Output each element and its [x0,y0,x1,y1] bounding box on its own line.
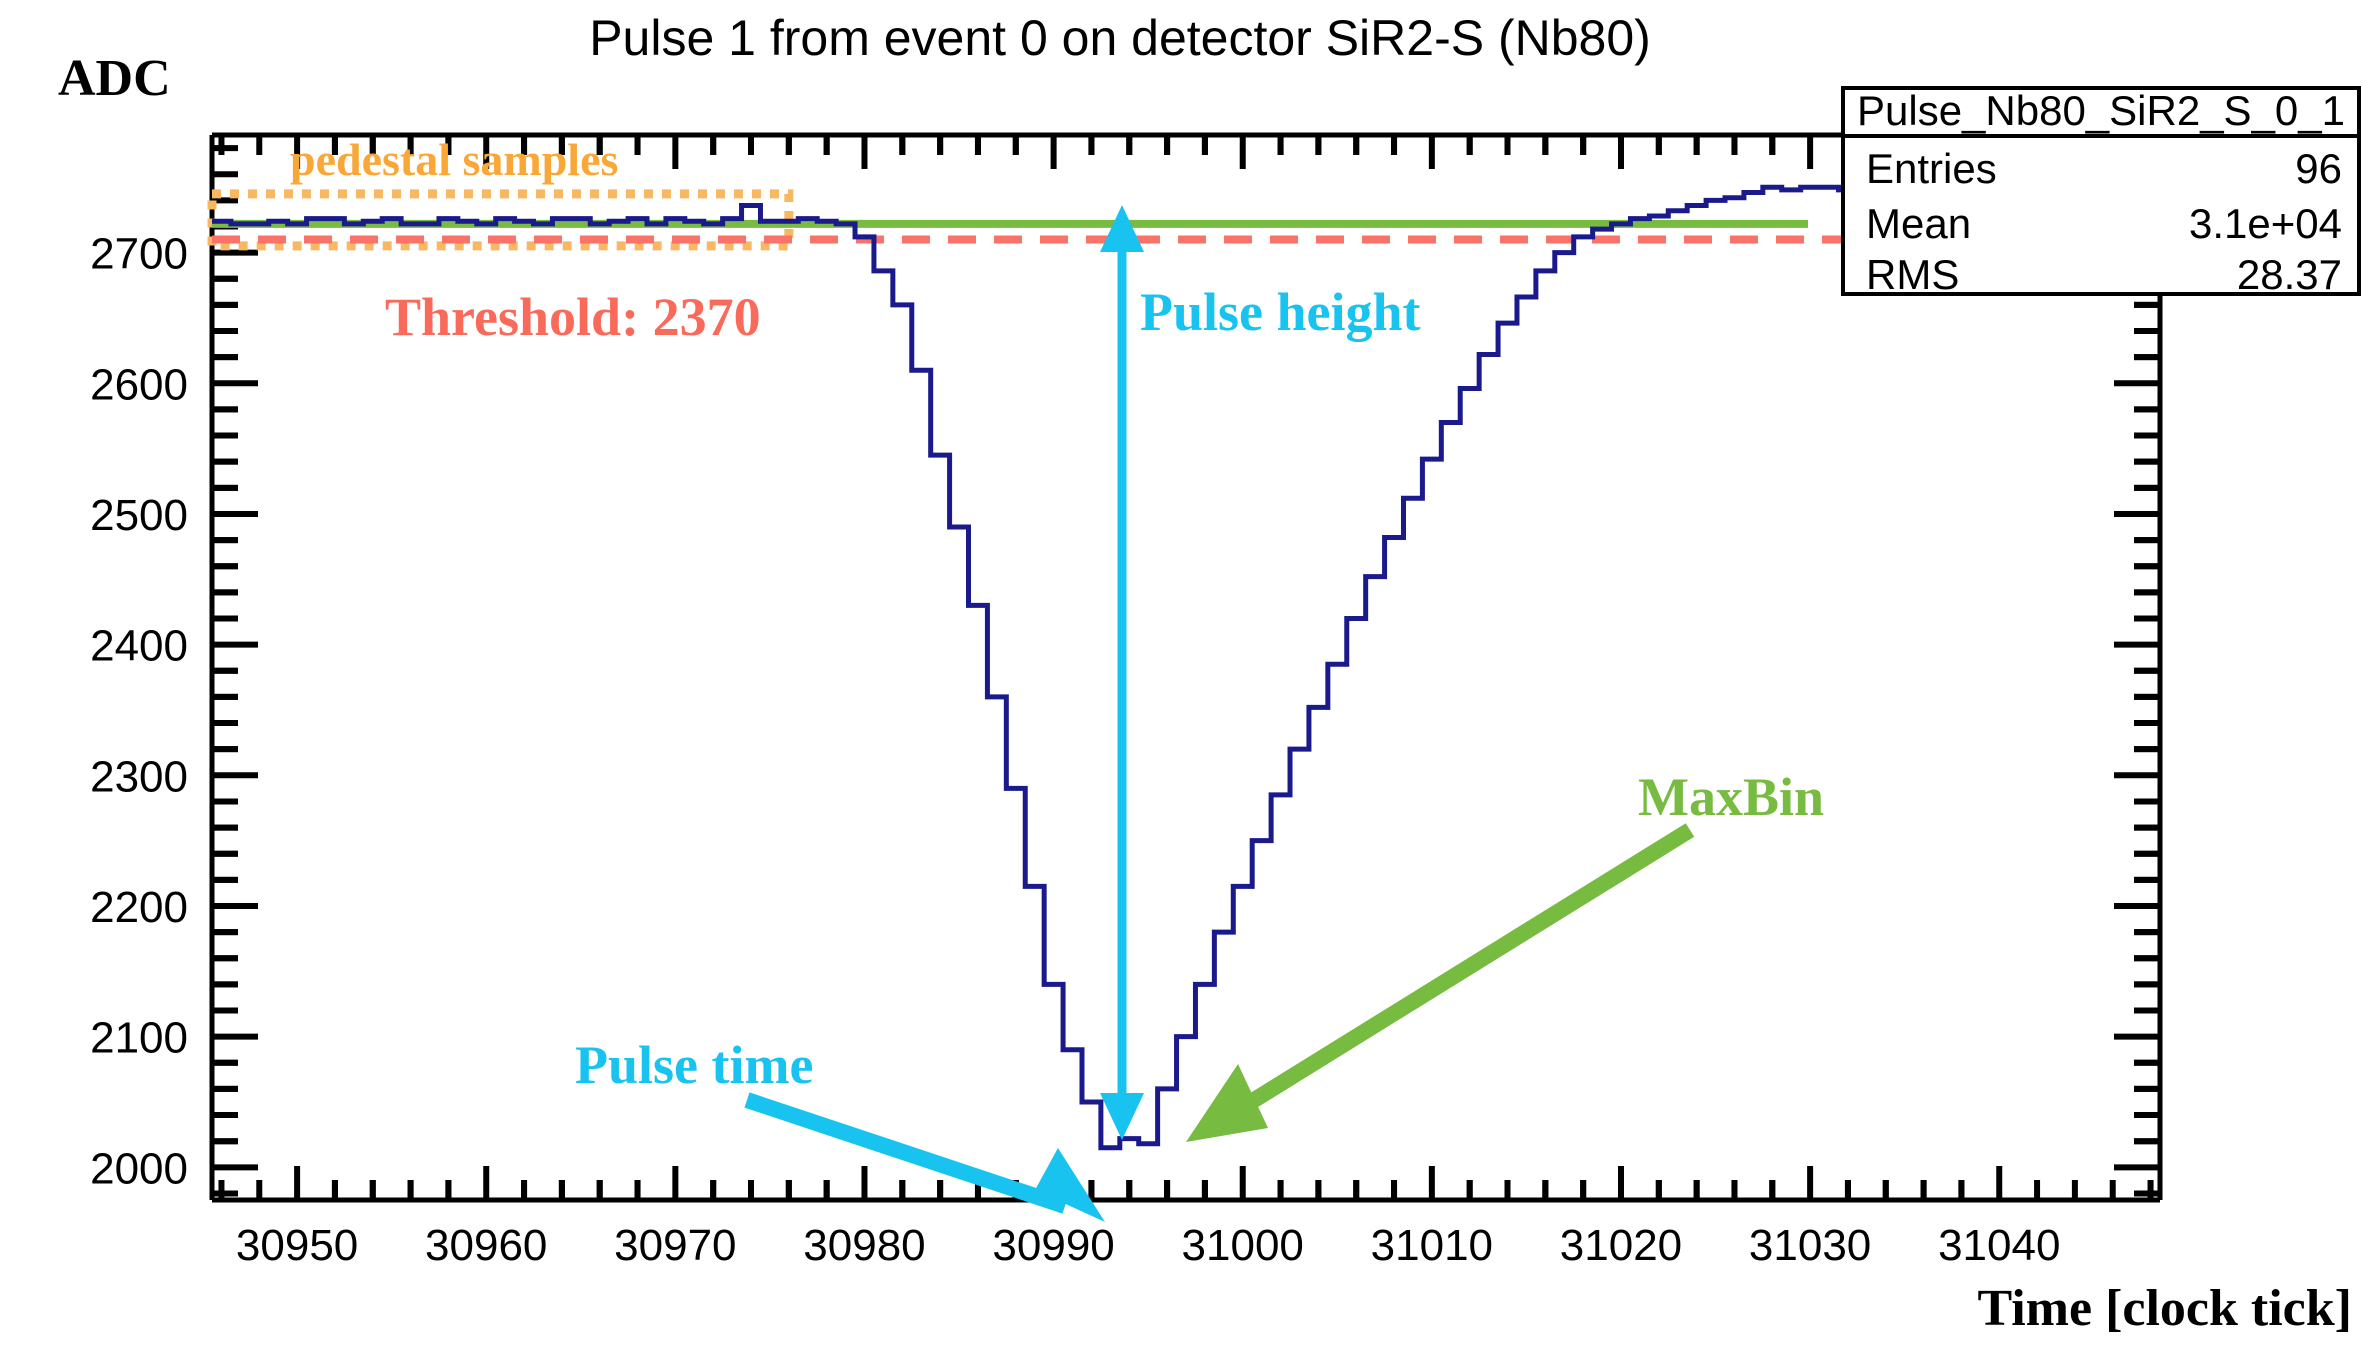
page-title: Pulse 1 from event 0 on detector SiR2-S … [589,10,1651,66]
x-tick-label: 31030 [1749,1221,1871,1270]
maxbin-arrow [1186,830,1690,1142]
x-tick-label: 31000 [1182,1221,1304,1270]
stats-row-label-0: Entries [1866,145,1997,192]
pedestal-samples-label: pedestal samples [290,134,618,185]
x-axis-title: Time [clock tick] [1977,1280,2352,1337]
y-tick-label: 2100 [90,1014,188,1063]
x-tick-label: 31020 [1560,1221,1682,1270]
pulse-height-label: Pulse height [1140,282,1421,342]
x-tick-label: 31010 [1371,1221,1493,1270]
pulse-time-arrow [747,1100,1105,1222]
x-tick-label: 30950 [236,1221,358,1270]
stats-box-title: Pulse_Nb80_SiR2_S_0_1 [1857,87,2345,134]
y-tick-label: 2700 [90,230,188,279]
y-tick-label: 2400 [90,622,188,671]
stats-row-value-0: 96 [2295,145,2342,192]
x-tick-label: 30980 [803,1221,925,1270]
threshold-label: Threshold: 2370 [385,287,761,347]
x-tick-label: 30990 [992,1221,1114,1270]
y-tick-label: 2000 [90,1144,188,1193]
pulse-time-label: Pulse time [575,1035,813,1095]
x-tick-label: 31040 [1938,1221,2060,1270]
y-tick-label: 2600 [90,360,188,409]
plot-svg: Pulse 1 from event 0 on detector SiR2-S … [0,0,2362,1345]
y-tick-label: 2500 [90,491,188,540]
y-axis-title: ADC [58,50,171,107]
stats-box[interactable]: Pulse_Nb80_SiR2_S_0_1 Entries 96 Mean 3.… [1843,87,2359,298]
stats-row-label-1: Mean [1866,200,1971,247]
maxbin-label: MaxBin [1638,767,1824,827]
x-tick-label: 30960 [425,1221,547,1270]
pulse-height-arrow [1100,205,1144,1140]
stats-row-value-1: 3.1e+04 [2189,200,2342,247]
root-plot-canvas: Pulse 1 from event 0 on detector SiR2-S … [0,0,2362,1345]
y-tick-label: 2200 [90,883,188,932]
stats-row-value-2: 28.37 [2237,251,2342,298]
x-tick-label: 30970 [614,1221,736,1270]
stats-row-label-2: RMS [1866,251,1959,298]
y-tick-label: 2300 [90,752,188,801]
